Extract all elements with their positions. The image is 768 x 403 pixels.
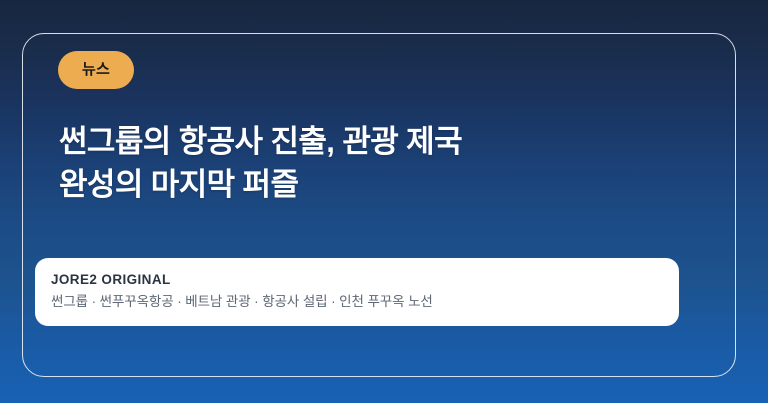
source-tags: 썬그룹 · 썬푸꾸옥항공 · 베트남 관광 · 항공사 설립 · 인천 푸꾸옥 … <box>51 292 663 313</box>
news-card-canvas: 뉴스 썬그룹의 항공사 진출, 관광 제국 완성의 마지막 퍼즐 JORE2 O… <box>0 0 768 403</box>
headline-title: 썬그룹의 항공사 진출, 관광 제국 완성의 마지막 퍼즐 <box>59 121 701 207</box>
source-label: JORE2 ORIGINAL <box>51 270 663 290</box>
category-badge[interactable]: 뉴스 <box>58 51 134 89</box>
source-card: JORE2 ORIGINAL 썬그룹 · 썬푸꾸옥항공 · 베트남 관광 · 항… <box>35 258 679 326</box>
